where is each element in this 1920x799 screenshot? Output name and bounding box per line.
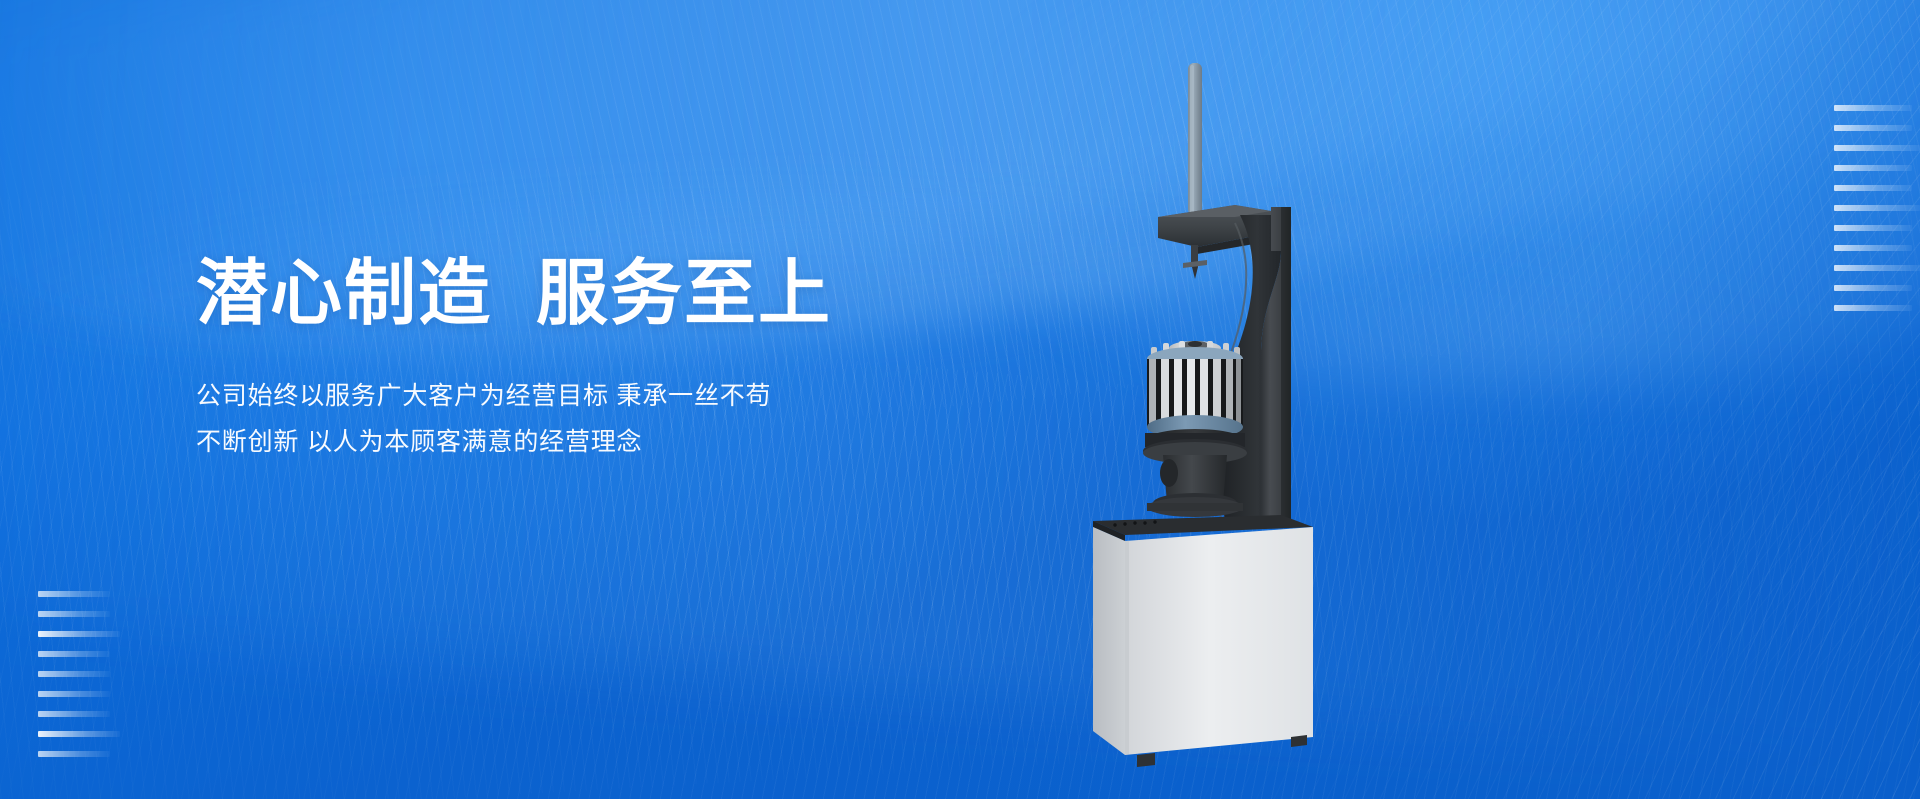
- striped-cylinder-drum: [1143, 341, 1247, 464]
- product-machine-illustration: [1085, 55, 1345, 775]
- decorative-bar: [1834, 265, 1920, 271]
- decorative-bar: [1834, 185, 1912, 191]
- decorative-bar: [38, 731, 120, 737]
- decorative-bar: [38, 751, 110, 757]
- hero-headline: 潜心制造 服务至上: [196, 254, 832, 335]
- decorative-bar: [38, 651, 110, 657]
- hero-copy-block: 潜心制造 服务至上 公司始终以服务广大客户为经营目标 秉承一丝不苟 不断创新 以…: [196, 254, 832, 465]
- decorative-bar-stack-left: [38, 591, 120, 771]
- decorative-bar: [38, 631, 120, 637]
- hero-subtitle: 公司始终以服务广大客户为经营目标 秉承一丝不苟 不断创新 以人为本顾客满意的经营…: [196, 373, 832, 466]
- decorative-bar: [1834, 125, 1912, 131]
- cabinet-foot: [1291, 735, 1307, 747]
- base-pedestal-cabinet: [1093, 515, 1313, 767]
- decorative-bar: [38, 691, 110, 697]
- decorative-bar: [1834, 285, 1912, 291]
- decorative-bar: [1834, 105, 1912, 111]
- decorative-bar: [1834, 245, 1912, 251]
- decorative-bar: [1834, 225, 1912, 231]
- decorative-bar: [38, 671, 110, 677]
- hero-banner: 潜心制造 服务至上 公司始终以服务广大客户为经营目标 秉承一丝不苟 不断创新 以…: [0, 0, 1920, 799]
- decorative-bar: [1834, 305, 1912, 311]
- decorative-bar-stack-right: [1834, 105, 1920, 325]
- decorative-bar: [38, 711, 110, 717]
- hero-subtitle-line-2: 不断创新 以人为本顾客满意的经营理念: [196, 419, 832, 465]
- hero-subtitle-line-1: 公司始终以服务广大客户为经营目标 秉承一丝不苟: [196, 373, 832, 419]
- decorative-bar: [1834, 205, 1920, 211]
- decorative-bar: [1834, 145, 1920, 151]
- decorative-bar: [38, 591, 110, 597]
- vertical-probe-rod: [1188, 63, 1202, 215]
- decorative-bar: [1834, 165, 1912, 171]
- cabinet-foot: [1137, 753, 1155, 767]
- decorative-bar: [38, 611, 110, 617]
